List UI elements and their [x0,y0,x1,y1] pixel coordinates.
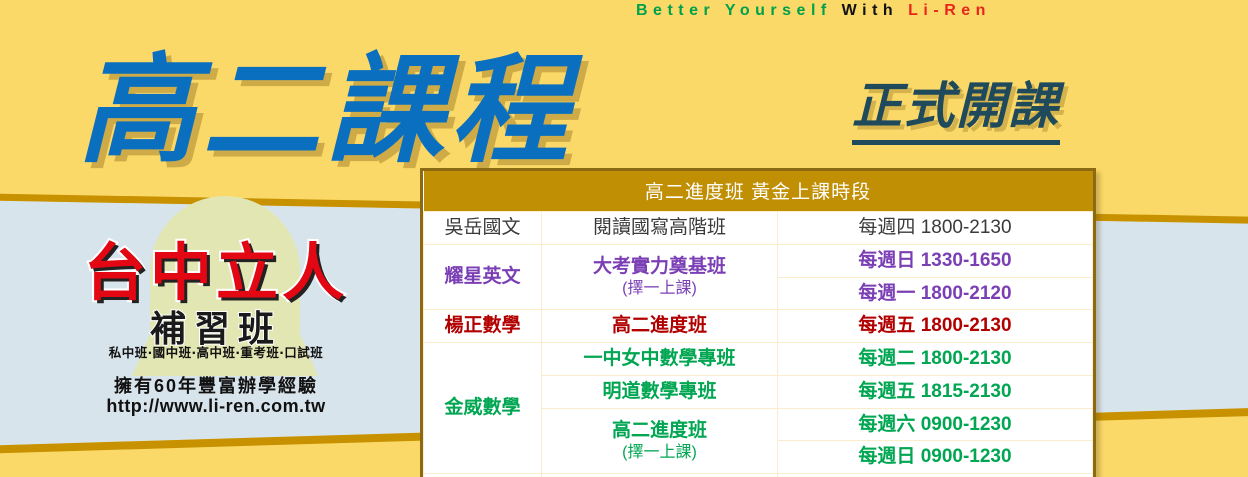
cell-time: 每週日 0900-1230 [778,441,1093,474]
logo-website-url: http://www.li-ren.com.tw [48,396,384,417]
table-row: 吳岳國文閱讀國寫高階班每週四 1800-2130 [424,212,1093,245]
table-row: 金威數學一中女中數學專班每週二 1800-2130 [424,343,1093,376]
cell-course-note: (擇一上課) [548,279,771,299]
cell-time: 每週五 1800-2130 [778,310,1093,343]
cell-time: 每週三 1800-2130 [778,474,1093,477]
cell-time: 每週一 1800-2120 [778,277,1093,310]
table-header-row: 高二進度班 黃金上課時段 [424,171,1093,212]
cell-course: 大考實力奠基班(擇一上課) [542,244,778,310]
schedule-table-head: 高二進度班 黃金上課時段 [424,171,1093,212]
cell-teacher: 吳岳國文 [424,212,542,245]
tagline-word-liren: Li-Ren [908,2,991,19]
cell-course: 閱讀國寫高階班 [542,212,778,245]
cell-time: 每週四 1800-2130 [778,212,1093,245]
page-title: 高二課程 [78,14,574,185]
cell-course: 高二進度班 [542,474,778,477]
brand-tagline: Better Yourself With Li-Ren [636,2,991,20]
cell-course: 高二進度班(擇一上課) [542,408,778,474]
table-row: 楊正數學高二進度班每週五 1800-2130 [424,310,1093,343]
cell-teacher: 金威數學 [424,343,542,474]
schedule-table-container: 高二進度班 黃金上課時段 吳岳國文閱讀國寫高階班每週四 1800-2130耀星英… [420,168,1096,477]
logo-experience-line: 擁有60年豐富辦學經驗 [48,372,384,398]
cell-course: 高二進度班 [542,310,778,343]
logo-program-tags: 私中班‧國中班‧高中班‧重考班‧口試班 [48,342,384,361]
schedule-table-header: 高二進度班 黃金上課時段 [424,171,1093,212]
schedule-table-body: 吳岳國文閱讀國寫高階班每週四 1800-2130耀星英文大考實力奠基班(擇一上課… [424,212,1093,477]
cell-teacher: 耀星英文 [424,244,542,310]
cell-course-note: (擇一上課) [548,443,771,463]
schedule-table: 高二進度班 黃金上課時段 吳岳國文閱讀國寫高階班每週四 1800-2130耀星英… [423,171,1093,477]
cell-teacher: 陳碩物理 [424,474,542,477]
tagline-word-with: With [842,2,899,19]
cell-time: 每週日 1330-1650 [778,244,1093,277]
page-subtitle: 正式開課 [852,66,1060,145]
tagline-word-better: Better [636,2,715,19]
poster-canvas: Better Yourself With Li-Ren 高二課程 正式開課 台中… [0,0,1248,477]
cell-course: 明道數學專班 [542,375,778,408]
table-row: 耀星英文大考實力奠基班(擇一上課)每週日 1330-1650 [424,244,1093,277]
tagline-word-yourself: Yourself [725,2,832,19]
logo-name: 台中立人 [48,222,384,312]
cell-time: 每週六 0900-1230 [778,408,1093,441]
cell-time: 每週二 1800-2130 [778,343,1093,376]
brand-logo: 台中立人 補習班 私中班‧國中班‧高中班‧重考班‧口試班 擁有60年豐富辦學經驗… [40,196,390,426]
table-row: 陳碩物理高二進度班每週三 1800-2130 [424,474,1093,477]
cell-time: 每週五 1815-2130 [778,375,1093,408]
cell-course: 一中女中數學專班 [542,343,778,376]
cell-teacher: 楊正數學 [424,310,542,343]
